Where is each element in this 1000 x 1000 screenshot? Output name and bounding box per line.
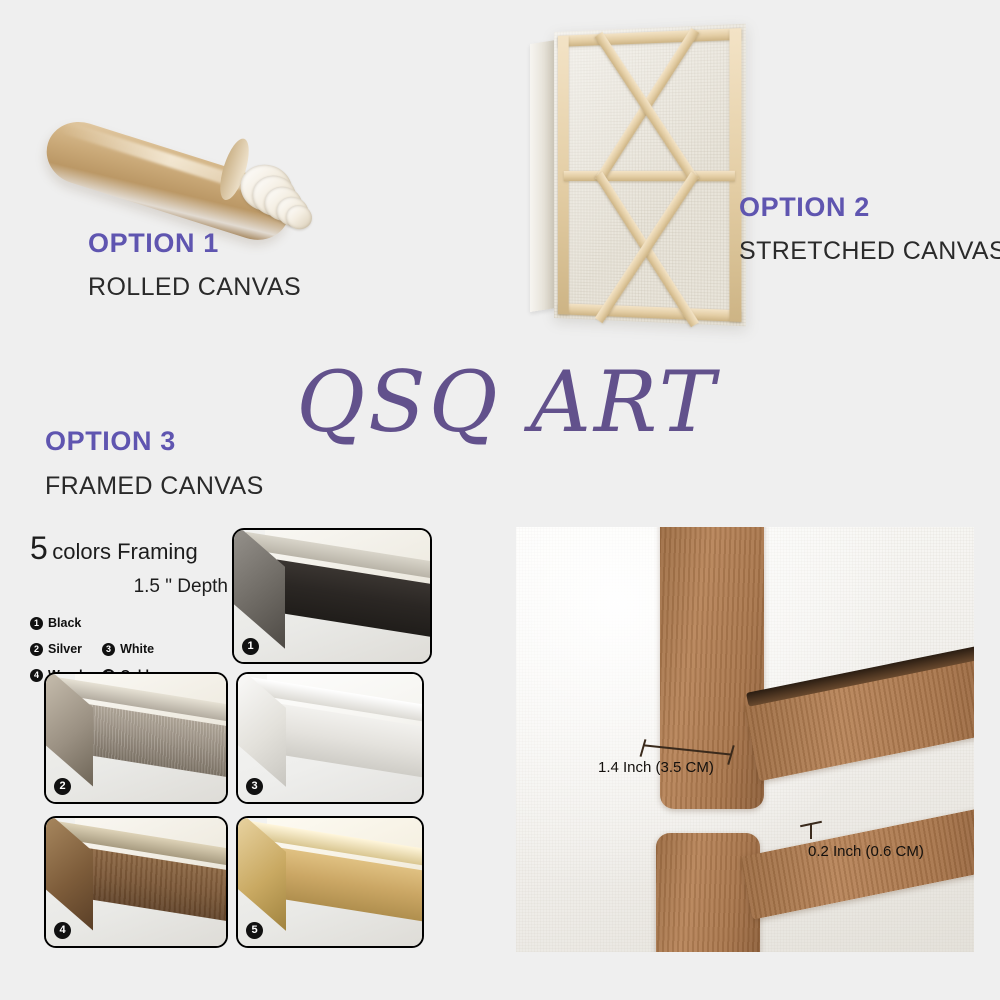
- infographic-canvas: OPTION 1 ROLLED CANVAS OPTION 2: [0, 0, 1000, 1000]
- stretcher-cross-brace: [564, 171, 735, 182]
- legend-label-silver: Silver: [48, 642, 82, 656]
- framing-info-block: 5 colors Framing 1.5 " Depth 1 Black 2 S…: [30, 532, 230, 690]
- option-1-title: ROLLED CANVAS: [88, 275, 301, 300]
- number-badge-5-icon: 5: [246, 922, 263, 939]
- stretcher-bar-top: [558, 28, 742, 47]
- legend-row: 1 Black: [30, 612, 230, 634]
- framing-count-line: 5 colors Framing: [30, 532, 230, 564]
- number-badge-4-icon: 4: [30, 669, 43, 682]
- frame-swatch-black[interactable]: 1: [232, 528, 432, 664]
- dimension-label-width: 1.4 Inch (3.5 CM): [598, 759, 714, 776]
- option-1-kicker: OPTION 1: [88, 230, 301, 257]
- number-badge-1-icon: 1: [242, 638, 259, 655]
- option-3-block: OPTION 3 FRAMED CANVAS: [45, 428, 264, 499]
- stretcher-bar-bottom: [558, 303, 742, 322]
- canvas-depth-side: [530, 40, 556, 312]
- number-badge-3-icon: 3: [246, 778, 263, 795]
- canvas-back-face: [554, 24, 746, 327]
- dimension-tick-gap: [810, 823, 812, 839]
- number-badge-3-icon: 3: [102, 643, 115, 656]
- option-1-block: OPTION 1 ROLLED CANVAS: [88, 230, 301, 300]
- legend-item-silver: 2 Silver: [30, 642, 82, 656]
- framing-count: 5: [30, 532, 47, 564]
- brand-logo: QSQ ART: [292, 352, 722, 452]
- option-2-block: OPTION 2 STRETCHED CANVAS: [739, 194, 1000, 264]
- stretched-canvas-image: [528, 26, 758, 326]
- number-badge-2-icon: 2: [54, 778, 71, 795]
- number-badge-2-icon: 2: [30, 643, 43, 656]
- rolled-canvas-tube-image: [38, 60, 338, 220]
- number-badge-1-icon: 1: [30, 617, 43, 630]
- option-2-kicker: OPTION 2: [739, 194, 1000, 221]
- framing-count-suffix: colors Framing: [52, 541, 197, 563]
- frame-swatch-gold[interactable]: 5: [236, 816, 424, 948]
- swatch-image: [46, 674, 226, 802]
- frame-vertical-member-lower: [656, 833, 760, 952]
- dimension-label-gap: 0.2 Inch (0.6 CM): [808, 843, 924, 860]
- swatch-image: [234, 530, 430, 662]
- frame-swatch-white[interactable]: 3: [236, 672, 424, 804]
- legend-label-black: Black: [48, 616, 81, 630]
- frame-swatch-wood[interactable]: 4: [44, 816, 228, 948]
- framing-depth: 1.5 " Depth: [30, 577, 230, 596]
- swatch-image: [238, 818, 422, 946]
- option-3-kicker: OPTION 3: [45, 428, 264, 455]
- legend-item-white: 3 White: [102, 642, 154, 656]
- option-3-title: FRAMED CANVAS: [45, 474, 264, 499]
- framed-canvas-detail-photo: 1.4 Inch (3.5 CM) 0.2 Inch (0.6 CM): [516, 527, 974, 952]
- option-2-title: STRETCHED CANVAS: [739, 239, 1000, 264]
- legend-row: 2 Silver 3 White: [30, 638, 230, 660]
- number-badge-4-icon: 4: [54, 922, 71, 939]
- legend-item-black: 1 Black: [30, 616, 81, 630]
- swatch-image: [238, 674, 422, 802]
- frame-swatch-silver[interactable]: 2: [44, 672, 228, 804]
- legend-label-white: White: [120, 642, 154, 656]
- swatch-image: [46, 818, 226, 946]
